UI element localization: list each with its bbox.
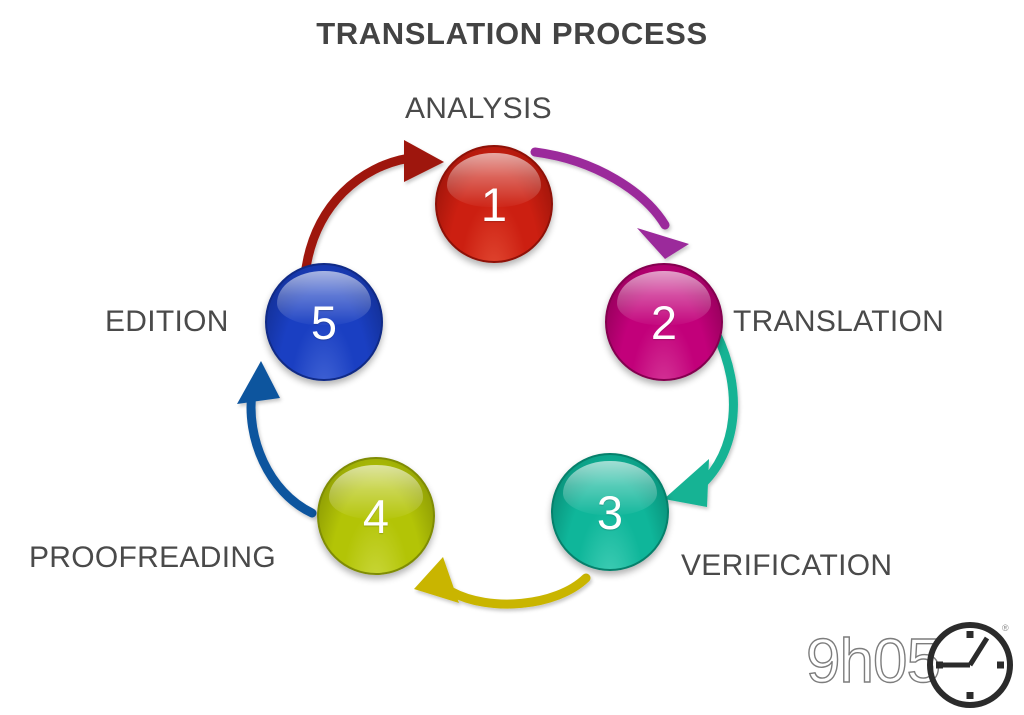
arrow-analysis-to-translation (535, 152, 689, 259)
stage-label-edition: EDITION (105, 305, 229, 339)
step-node-2[interactable]: 2 (605, 263, 723, 381)
stage-label-analysis: ANALYSIS (405, 92, 552, 126)
step-node-1[interactable]: 1 (435, 145, 553, 263)
stage-label-verification: VERIFICATION (681, 549, 892, 583)
step-number-2: 2 (605, 263, 723, 381)
step-number-1: 1 (435, 145, 553, 263)
stage-label-proofreading: PROOFREADING (29, 541, 276, 575)
arrow-proofreading-to-edition (237, 361, 312, 513)
step-node-3[interactable]: 3 (551, 453, 669, 571)
step-node-4[interactable]: 4 (317, 457, 435, 575)
brand-logo: 9h05 ® (806, 615, 1018, 711)
arrow-edition-to-analysis (306, 140, 444, 268)
registered-trademark-mark: ® (1002, 623, 1009, 633)
step-number-3: 3 (551, 453, 669, 571)
step-node-5[interactable]: 5 (265, 263, 383, 381)
step-number-4: 4 (317, 457, 435, 575)
step-number-5: 5 (265, 263, 383, 381)
stage-label-translation: TRANSLATION (733, 305, 944, 339)
logo-wordmark: 9h05 (806, 631, 940, 693)
translation-process-diagram: TRANSLATION PROCESS (0, 0, 1024, 715)
